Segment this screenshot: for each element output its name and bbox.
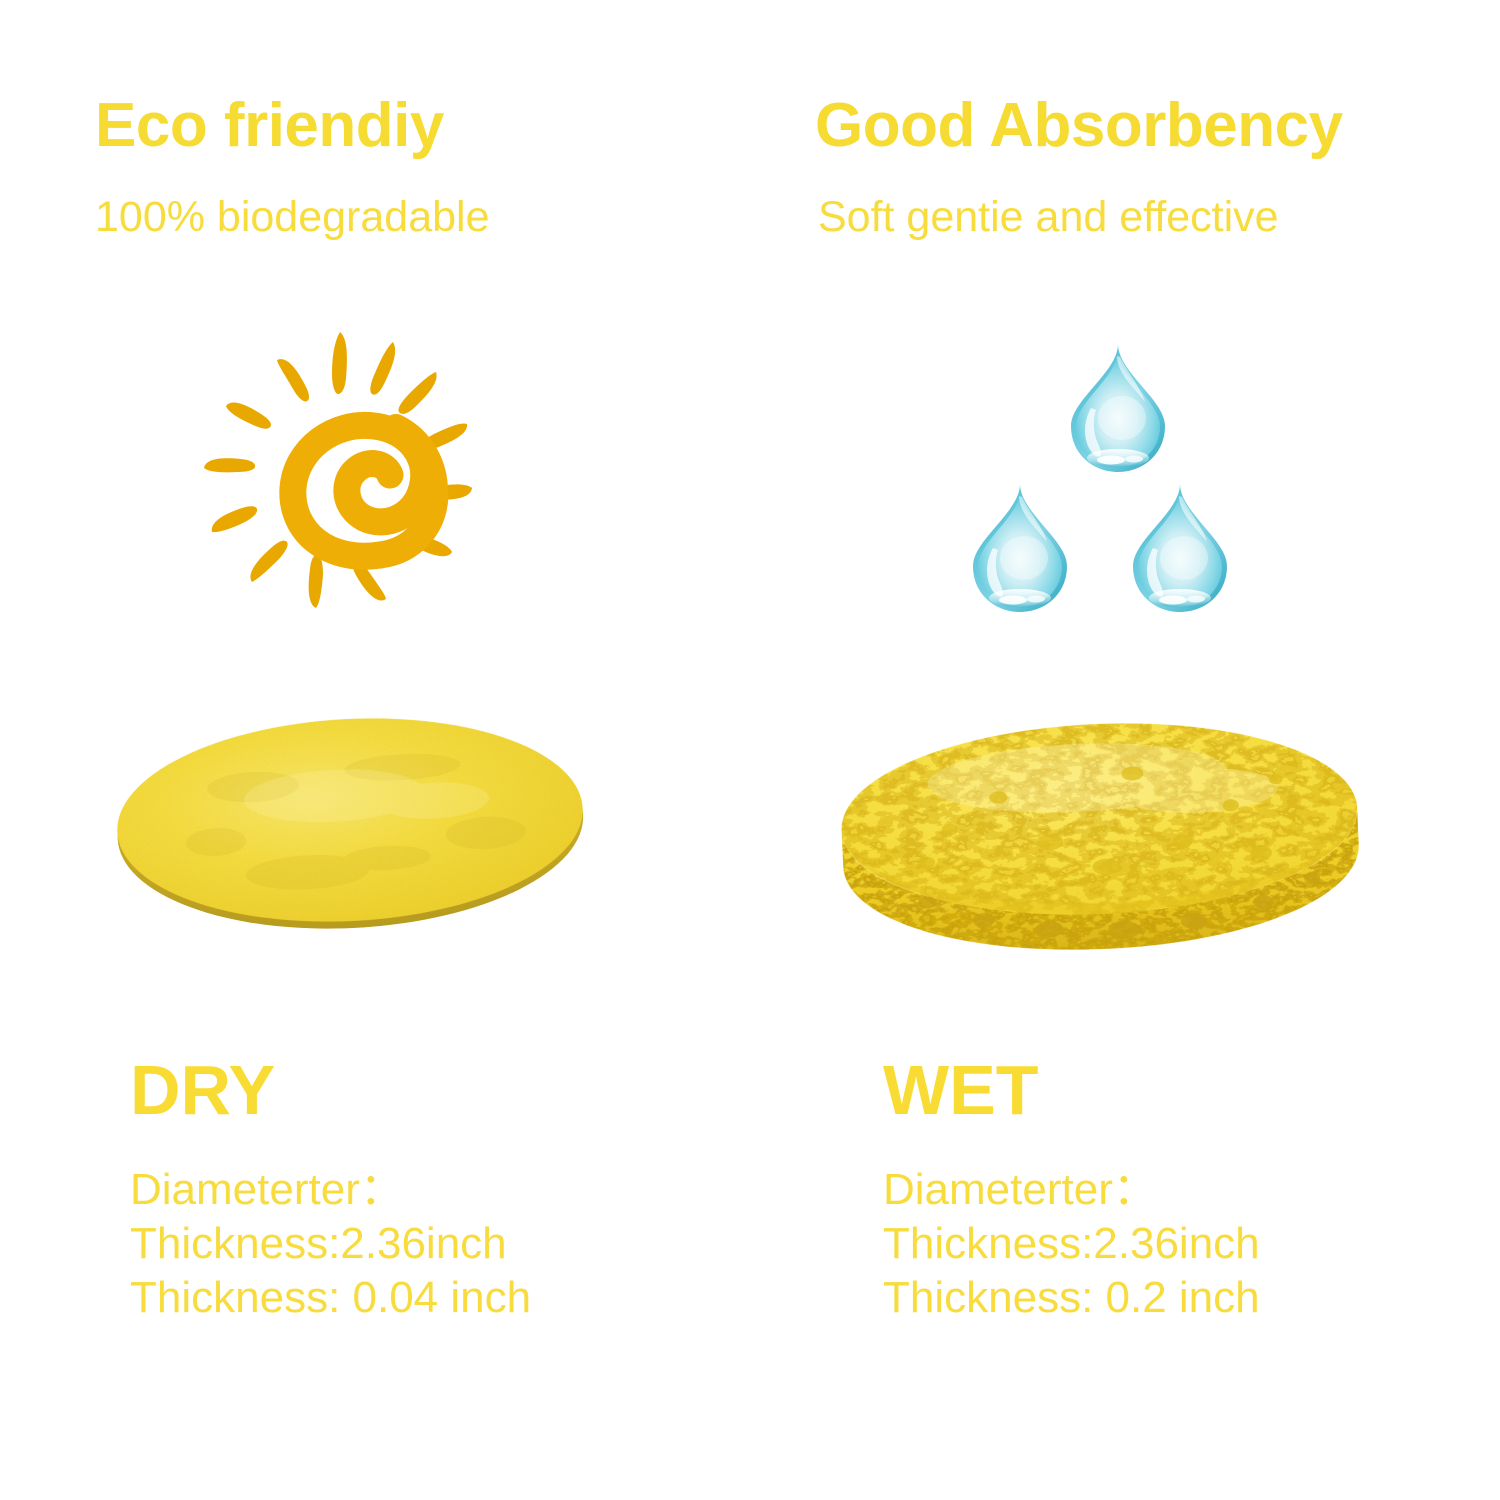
- droplet-top: [1071, 344, 1165, 472]
- state-label-wet: WET: [883, 1055, 1260, 1125]
- state-label-dry: DRY: [130, 1055, 531, 1125]
- dry-sponge-svg: [105, 700, 595, 940]
- wet-sponge-svg: [830, 715, 1370, 965]
- spec-diameter-wet: Diameterter：: [883, 1163, 1260, 1217]
- droplet-bottom-right: [1133, 484, 1227, 612]
- spec-block-wet: WET Diameterter： Thickness:2.36inch Thic…: [883, 1055, 1260, 1325]
- spec-block-dry: DRY Diameterter： Thickness:2.36inch Thic…: [130, 1055, 531, 1325]
- infographic-canvas: Eco friendiy 100% biodegradable: [0, 0, 1500, 1500]
- wet-sponge-image: [830, 715, 1370, 965]
- sun-icon-svg: [190, 320, 490, 620]
- feature-subtitle-absorbency: Soft gentie and effective: [818, 196, 1279, 239]
- sun-icon: [190, 320, 490, 640]
- feature-subtitle-eco: 100% biodegradable: [95, 196, 490, 239]
- spec-thickness-a-wet: Thickness:2.36inch: [883, 1217, 1260, 1271]
- spec-thickness-a-dry: Thickness:2.36inch: [130, 1217, 531, 1271]
- spec-diameter-dry: Diameterter：: [130, 1163, 531, 1217]
- spec-thickness-b-dry: Thickness: 0.04 inch: [130, 1271, 531, 1325]
- column-wet: Good Absorbency Soft gentie and effectiv…: [750, 0, 1500, 1500]
- droplet-bottom-left: [973, 484, 1067, 612]
- sun-spiral-group: [293, 425, 435, 556]
- water-droplets-svg: [950, 320, 1270, 640]
- feature-title-eco: Eco friendiy: [95, 95, 444, 157]
- dry-sponge-image: [105, 700, 595, 940]
- column-dry: Eco friendiy 100% biodegradable: [0, 0, 750, 1500]
- feature-title-absorbency: Good Absorbency: [815, 95, 1343, 157]
- spec-thickness-b-wet: Thickness: 0.2 inch: [883, 1271, 1260, 1325]
- water-droplets-icon: [950, 320, 1270, 640]
